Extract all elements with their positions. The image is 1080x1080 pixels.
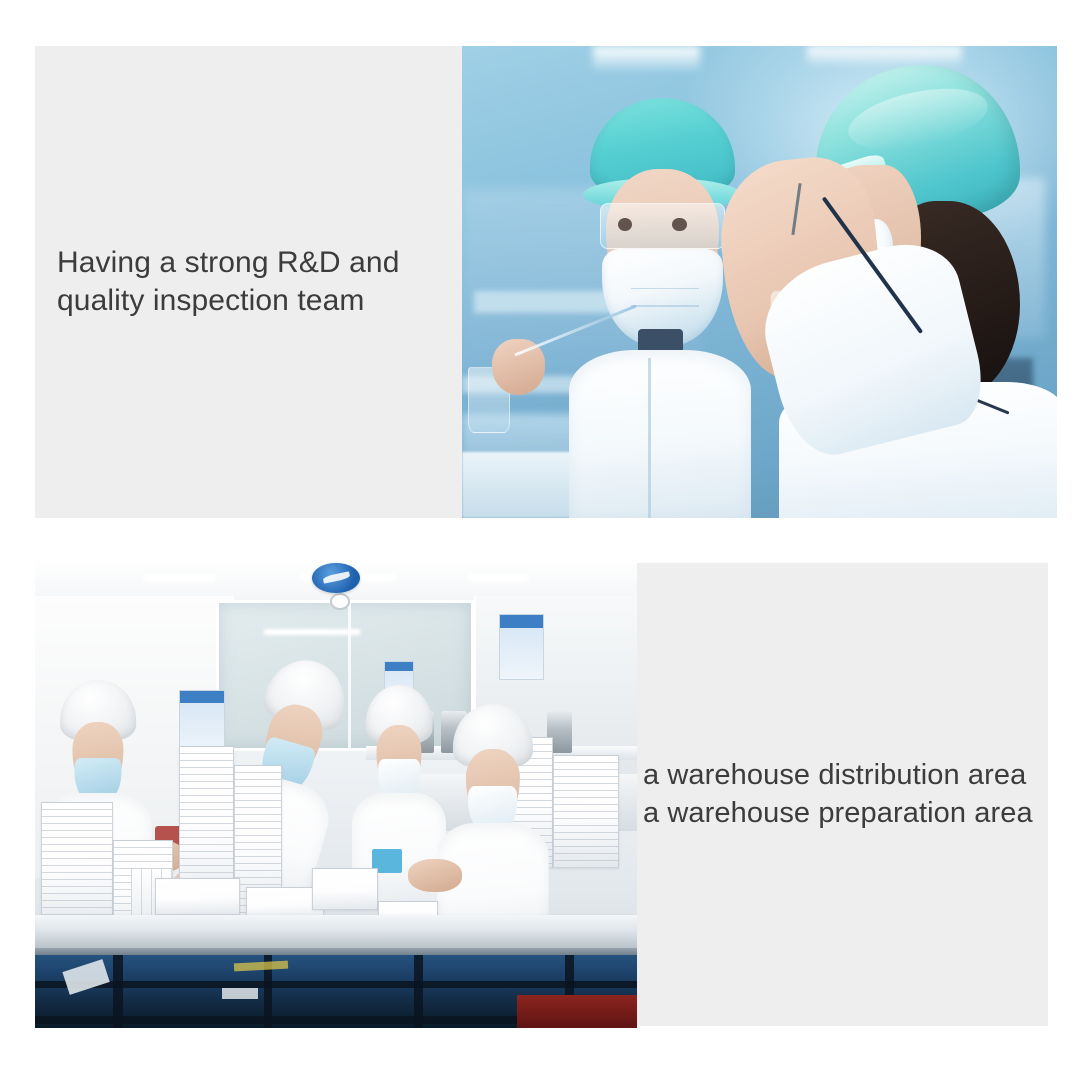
ceiling-light: [143, 574, 215, 582]
section-warehouse-areas: a warehouse distribution area a warehous…: [35, 558, 1048, 1028]
ceiling-light: [593, 46, 700, 70]
blue-round-sign-icon: [312, 563, 360, 594]
worker-hand: [408, 859, 462, 892]
poster-header-band: [180, 691, 223, 704]
carton-edges: [42, 803, 112, 928]
caption-panel-rd-quality: Having a strong R&D and quality inspecti…: [35, 46, 462, 518]
wall-notice-poster: [499, 614, 544, 680]
under-shelf-item: [222, 988, 258, 999]
mask-pleat: [631, 288, 699, 290]
worker-eye: [672, 218, 686, 231]
caption-text-warehouse-areas: a warehouse distribution area a warehous…: [637, 757, 1037, 831]
ceiling-light-secondary: [807, 46, 962, 65]
caption-panel-warehouse-areas: a warehouse distribution area a warehous…: [637, 563, 1048, 1026]
mask-pleat: [631, 305, 699, 307]
lab-coat-lapel: [648, 358, 651, 518]
carton-stack: [41, 802, 113, 929]
warehouse-packing-cleanroom-photo: [35, 558, 637, 1028]
red-floor-area: [517, 995, 637, 1028]
section-rd-quality: Having a strong R&D and quality inspecti…: [35, 46, 1057, 518]
ceiling-light: [468, 574, 528, 582]
poster-header-band: [385, 662, 413, 671]
lab-rd-quality-inspection-photo: [462, 46, 1057, 518]
carton-stack: [553, 755, 619, 868]
lab-coat: [569, 350, 751, 518]
carton-box: [155, 878, 239, 916]
table-frame-bar: [35, 981, 637, 988]
lab-worker-front: [557, 98, 759, 518]
carton-box: [312, 868, 378, 910]
poster-header-band: [500, 615, 543, 628]
window-light-reflection: [264, 629, 360, 636]
worker-eye: [618, 218, 632, 231]
carton-edges: [554, 756, 618, 867]
caption-text-rd-quality: Having a strong R&D and quality inspecti…: [35, 244, 409, 321]
product-capability-page: Having a strong R&D and quality inspecti…: [0, 0, 1080, 1080]
